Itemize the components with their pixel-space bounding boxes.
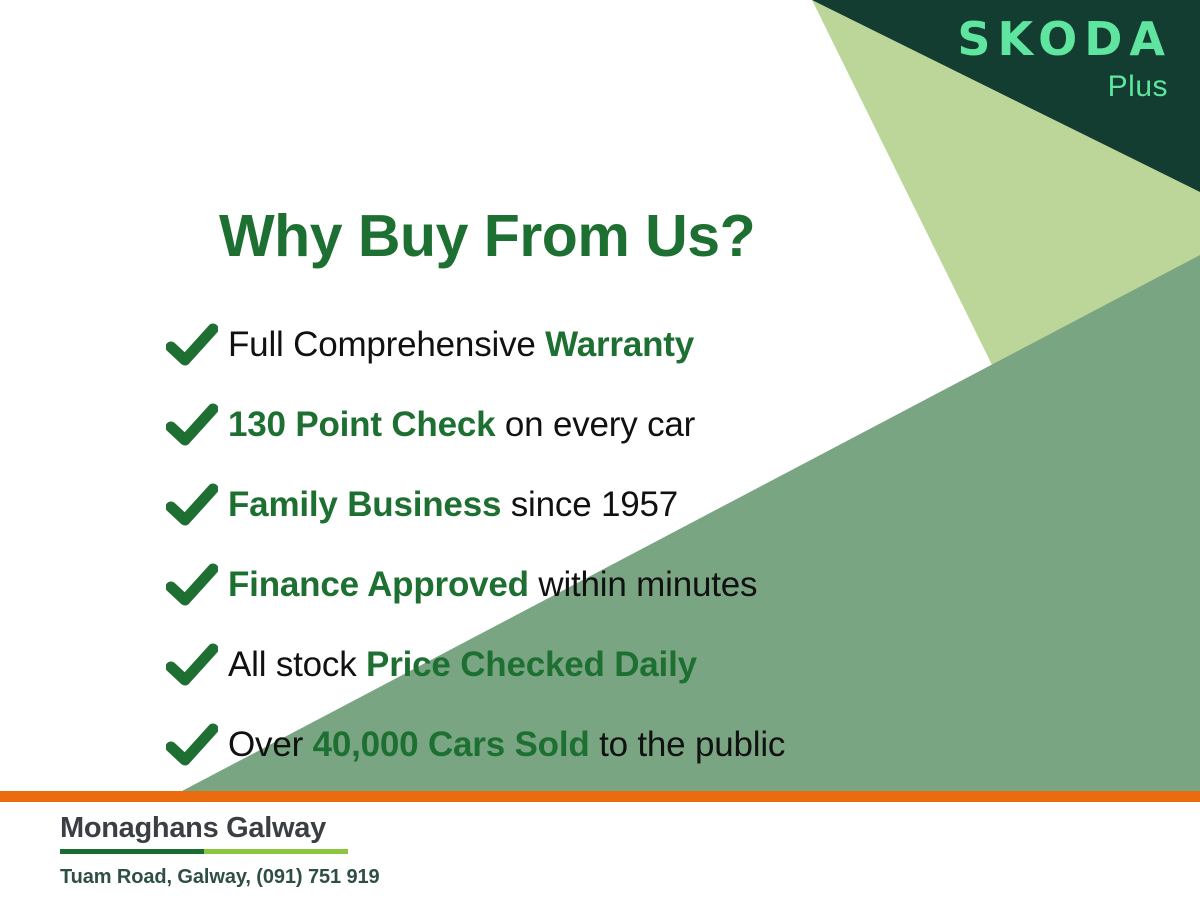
check-icon	[166, 401, 228, 449]
list-item: 130 Point Check on every car	[166, 385, 996, 465]
list-item: Over 40,000 Cars Sold to the public	[166, 705, 996, 785]
list-item: Full Comprehensive Warranty	[166, 305, 996, 385]
benefits-list: Full Comprehensive Warranty 130 Point Ch…	[166, 305, 996, 785]
list-item-label: Finance Approved within minutes	[228, 565, 757, 605]
list-item: Family Business since 1957	[166, 465, 996, 545]
check-icon	[166, 481, 228, 529]
dealer-name-underline	[60, 849, 348, 854]
footer: Monaghans Galway Tuam Road, Galway, (091…	[60, 812, 380, 889]
poster-canvas: SKODA Plus Why Buy From Us? Full Compreh…	[0, 0, 1200, 901]
check-icon	[166, 561, 228, 609]
underline-segment-dark	[60, 849, 204, 854]
dealer-address: Tuam Road, Galway, (091) 751 919	[60, 866, 380, 889]
list-item-label: 130 Point Check on every car	[228, 405, 695, 445]
list-item-label: All stock Price Checked Daily	[228, 645, 697, 685]
check-icon	[166, 321, 228, 369]
check-icon	[166, 721, 228, 769]
check-icon	[166, 641, 228, 689]
underline-segment-light	[204, 849, 348, 854]
list-item-label: Full Comprehensive Warranty	[228, 325, 694, 365]
skoda-wordmark: SKODA	[957, 16, 1172, 62]
dealer-name: Monaghans Galway	[60, 812, 326, 854]
list-item-label: Over 40,000 Cars Sold to the public	[228, 725, 785, 765]
dealer-name-text: Monaghans Galway	[60, 812, 326, 844]
page-title: Why Buy From Us?	[219, 202, 755, 270]
list-item-label: Family Business since 1957	[228, 485, 678, 525]
list-item: Finance Approved within minutes	[166, 545, 996, 625]
plus-wordmark: Plus	[957, 72, 1168, 102]
orange-divider	[0, 791, 1200, 802]
skoda-plus-logo: SKODA Plus	[957, 16, 1172, 102]
list-item: All stock Price Checked Daily	[166, 625, 996, 705]
